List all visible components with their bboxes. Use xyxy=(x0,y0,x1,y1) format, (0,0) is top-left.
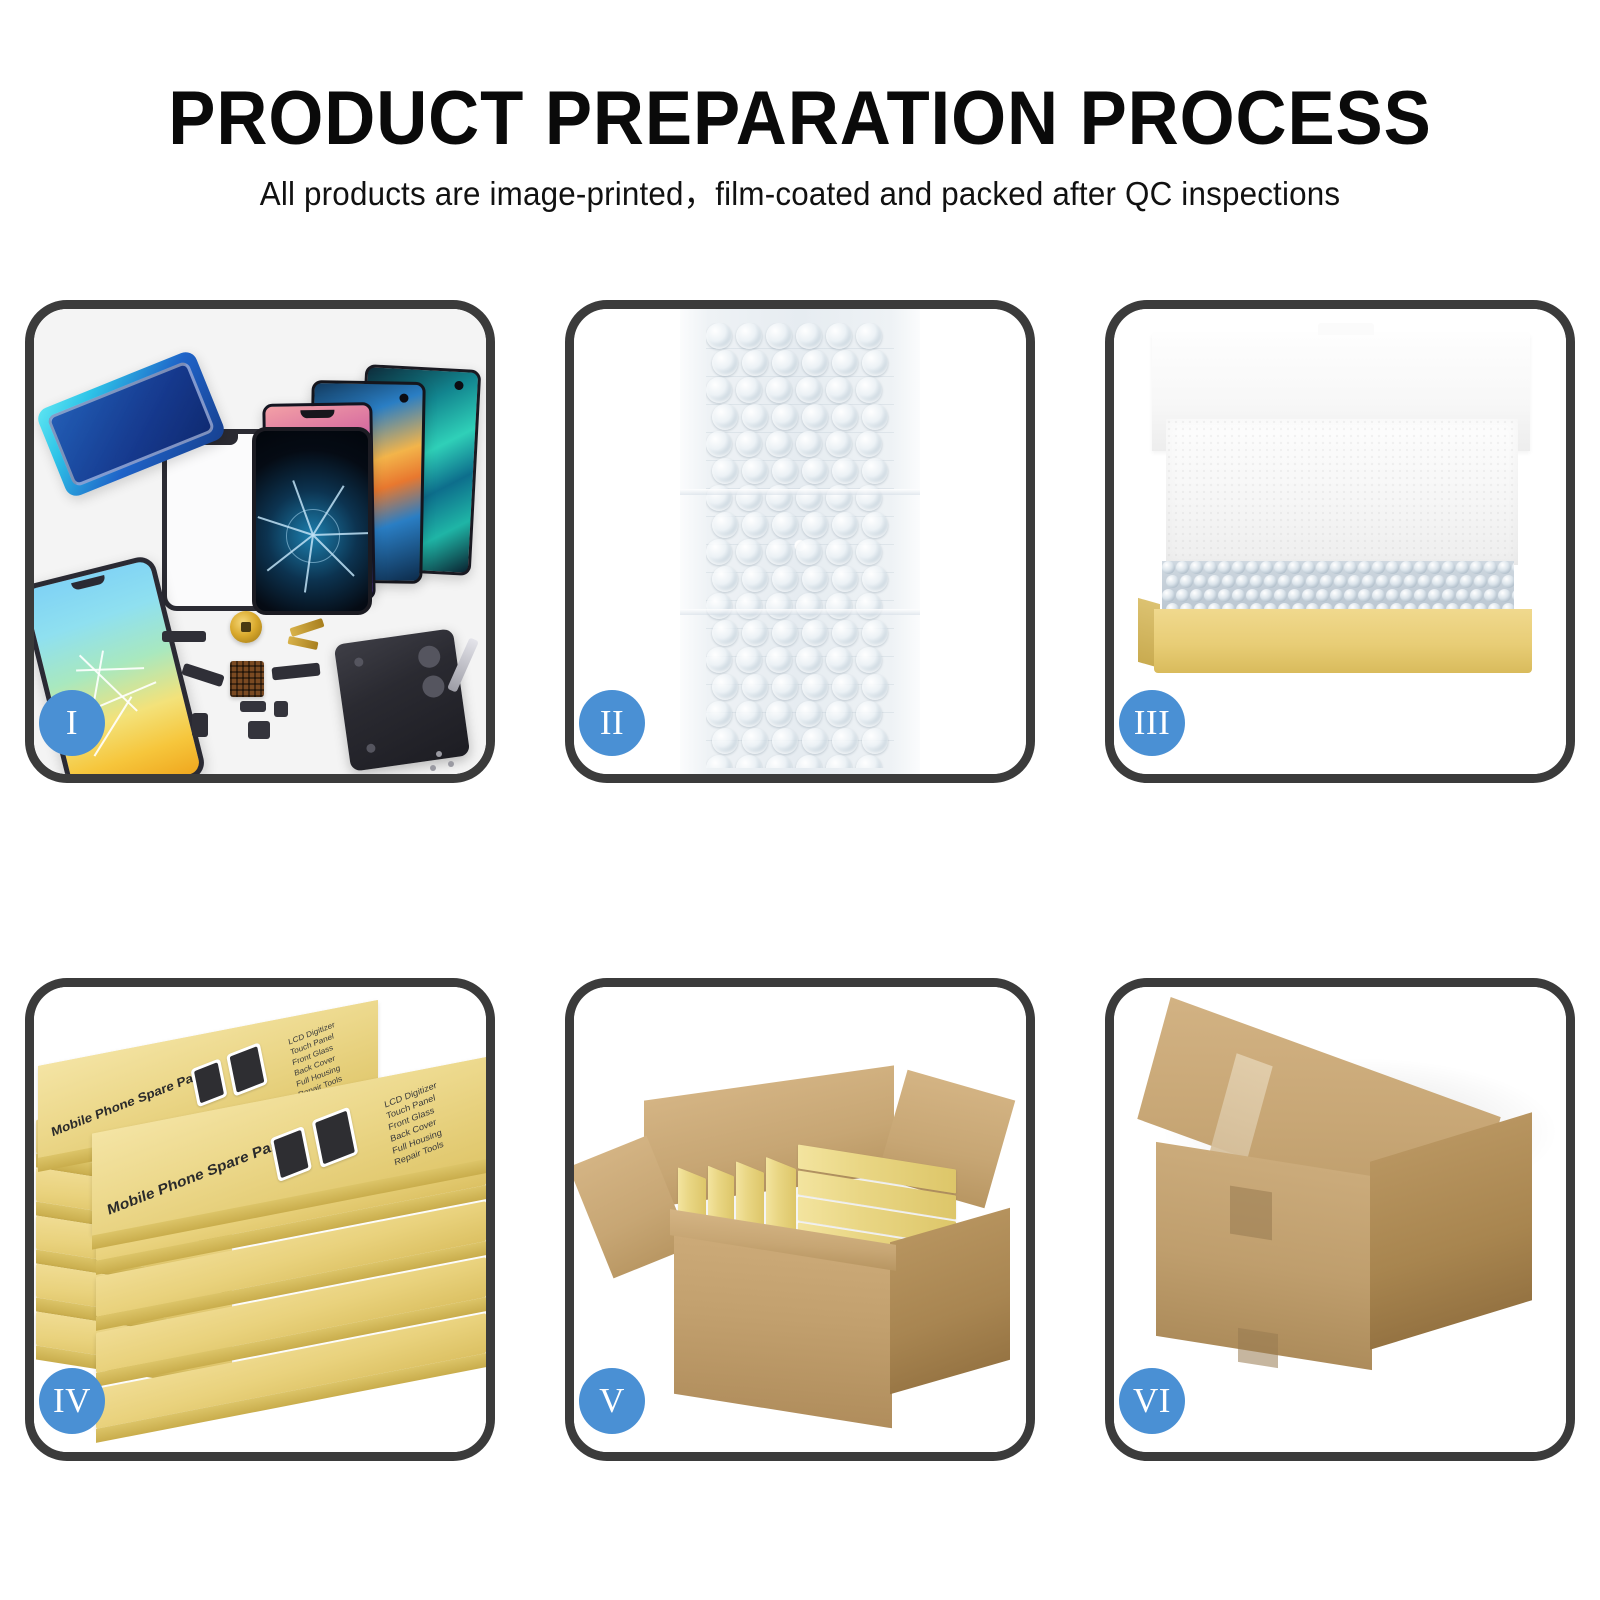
bubble xyxy=(862,458,888,484)
bubble xyxy=(1176,561,1189,574)
bubble xyxy=(712,458,738,484)
bubble xyxy=(1218,561,1231,574)
bubble xyxy=(1376,575,1389,588)
bubble xyxy=(1232,589,1245,602)
bubble xyxy=(706,755,732,768)
bubble xyxy=(772,404,798,430)
bubble xyxy=(1372,561,1385,574)
bubble xyxy=(1348,575,1361,588)
bubble xyxy=(856,593,882,619)
vibrator-icon xyxy=(274,701,288,717)
bubble xyxy=(1428,561,1441,574)
bubble xyxy=(1400,589,1413,602)
bubble xyxy=(1162,561,1175,574)
bubble xyxy=(1334,575,1347,588)
bubble xyxy=(796,323,822,349)
bubble xyxy=(1176,589,1189,602)
bubble xyxy=(826,593,852,619)
bubble xyxy=(1246,589,1259,602)
bubble xyxy=(1190,561,1203,574)
bubble xyxy=(1432,575,1445,588)
bubble xyxy=(856,701,882,727)
bubble xyxy=(766,593,792,619)
bubble xyxy=(772,512,798,538)
bubble xyxy=(826,539,852,565)
camera-cutout xyxy=(417,644,442,669)
bubble-wrap-sleeve xyxy=(680,309,920,774)
bubble xyxy=(736,431,762,457)
bubble xyxy=(706,377,732,403)
bubble xyxy=(796,701,822,727)
bubble xyxy=(1358,561,1371,574)
bubble xyxy=(736,701,762,727)
screw-hole xyxy=(366,743,376,753)
bubble xyxy=(712,350,738,376)
bubble xyxy=(802,674,828,700)
wrap-seam xyxy=(680,489,920,495)
bubble xyxy=(706,593,732,619)
screw-icon xyxy=(430,765,436,771)
step-badge-2: II xyxy=(579,690,645,756)
step-card-5[interactable]: V xyxy=(565,978,1035,1461)
bubble xyxy=(1414,561,1427,574)
bubble xyxy=(742,674,768,700)
bubble xyxy=(712,620,738,646)
ic-chip-icon xyxy=(230,661,264,697)
sim-tray-icon xyxy=(192,713,208,737)
bubble xyxy=(832,620,858,646)
bubble xyxy=(1162,589,1175,602)
bubble xyxy=(712,728,738,754)
wrap-seam xyxy=(680,609,920,615)
page-title: PRODUCT PREPARATION PROCESS xyxy=(56,0,1544,160)
bubble xyxy=(826,701,852,727)
bubble xyxy=(1274,561,1287,574)
bubble xyxy=(706,647,732,673)
bubble xyxy=(736,647,762,673)
bubble xyxy=(766,647,792,673)
bubble xyxy=(1302,589,1315,602)
bubble xyxy=(1302,561,1315,574)
bubble xyxy=(1400,561,1413,574)
bubble xyxy=(856,647,882,673)
bubble xyxy=(772,620,798,646)
bubble xyxy=(1292,575,1305,588)
bubble xyxy=(1414,589,1427,602)
step-card-3[interactable]: III xyxy=(1105,300,1575,783)
bubble xyxy=(742,566,768,592)
bubble xyxy=(832,674,858,700)
bubble xyxy=(1274,589,1287,602)
bubble xyxy=(1190,589,1203,602)
bubble xyxy=(802,512,828,538)
step-badge-5: V xyxy=(579,1368,645,1434)
bubble xyxy=(862,350,888,376)
bubble xyxy=(1474,575,1487,588)
bubble xyxy=(1460,575,1473,588)
bubble xyxy=(1372,589,1385,602)
bubble xyxy=(742,404,768,430)
bubble xyxy=(1204,561,1217,574)
bubble xyxy=(1260,561,1273,574)
bubble xyxy=(1404,575,1417,588)
bubble xyxy=(1246,561,1259,574)
step-badge-1: I xyxy=(39,690,105,756)
bubble xyxy=(1232,561,1245,574)
bubble xyxy=(1442,561,1455,574)
bubble xyxy=(712,512,738,538)
gold-box-body xyxy=(1154,609,1532,673)
bubble xyxy=(1512,561,1514,574)
bubble xyxy=(772,728,798,754)
process-step-grid: I II III xyxy=(25,300,1575,1461)
bubble xyxy=(766,755,792,768)
punch-hole-icon xyxy=(454,381,463,390)
bubble xyxy=(862,512,888,538)
bubble xyxy=(802,350,828,376)
bubble xyxy=(826,755,852,768)
bubble xyxy=(1488,575,1501,588)
bubble xyxy=(832,728,858,754)
bubble xyxy=(856,377,882,403)
step-2-image xyxy=(574,309,1026,774)
bubble xyxy=(1330,561,1343,574)
bubble xyxy=(1180,575,1193,588)
carton-tab-upper xyxy=(1230,1186,1272,1241)
bubble xyxy=(862,404,888,430)
bubble xyxy=(766,701,792,727)
step-card-1[interactable]: I xyxy=(25,300,495,783)
bubble xyxy=(826,323,852,349)
bubble xyxy=(1484,589,1497,602)
bubble xyxy=(856,755,882,768)
bubble xyxy=(706,539,732,565)
bubble xyxy=(1208,575,1221,588)
bubble xyxy=(1250,575,1263,588)
bubble-wrapped-contents xyxy=(1162,561,1514,615)
foam-insert xyxy=(1166,419,1518,565)
bubble xyxy=(862,566,888,592)
bubble xyxy=(1386,561,1399,574)
step-card-6[interactable]: VI xyxy=(1105,978,1575,1461)
bubble xyxy=(1344,589,1357,602)
bubble xyxy=(796,539,822,565)
bubble xyxy=(802,458,828,484)
step-3-image xyxy=(1114,309,1566,774)
bubble xyxy=(1362,575,1375,588)
bubble xyxy=(1166,575,1179,588)
step-badge-3: III xyxy=(1119,690,1185,756)
bubble xyxy=(736,755,762,768)
bubble xyxy=(1502,575,1514,588)
step-card-2[interactable]: II xyxy=(565,300,1035,783)
speaker-icon xyxy=(240,701,266,712)
bubble xyxy=(802,566,828,592)
bubble xyxy=(1194,575,1207,588)
flex-cable-icon xyxy=(162,631,206,642)
bubble xyxy=(712,674,738,700)
bubble xyxy=(1222,575,1235,588)
bubble xyxy=(802,728,828,754)
bubble xyxy=(1428,589,1441,602)
camera-module-icon xyxy=(248,721,270,739)
bubble xyxy=(1418,575,1431,588)
bubble xyxy=(1484,561,1497,574)
bubble xyxy=(1358,589,1371,602)
bubble xyxy=(766,377,792,403)
bubble xyxy=(856,539,882,565)
bubble xyxy=(742,458,768,484)
bubble xyxy=(826,377,852,403)
bubble xyxy=(1498,589,1511,602)
cracked-lcd-icon xyxy=(252,427,372,615)
carton-tab-lower xyxy=(1238,1328,1278,1368)
screw-icon xyxy=(448,761,454,767)
bubble xyxy=(1470,589,1483,602)
bubble xyxy=(706,701,732,727)
bubble xyxy=(742,728,768,754)
wireless-coil-icon xyxy=(230,611,262,643)
lid-tab xyxy=(1318,323,1374,335)
bubble xyxy=(1498,561,1511,574)
bubble xyxy=(802,620,828,646)
bubble xyxy=(772,674,798,700)
bubble xyxy=(772,458,798,484)
bubble xyxy=(1446,575,1459,588)
bubble xyxy=(1442,589,1455,602)
step-4-image: Mobile Phone Spare Parts LCD Digitizer T… xyxy=(34,987,486,1452)
bubble xyxy=(796,431,822,457)
bubble xyxy=(1512,589,1514,602)
bubble xyxy=(796,377,822,403)
bubble xyxy=(742,350,768,376)
bubble xyxy=(766,539,792,565)
bubble xyxy=(802,404,828,430)
bubble xyxy=(1260,589,1273,602)
bubble xyxy=(1306,575,1319,588)
step-badge-6: VI xyxy=(1119,1368,1185,1434)
bubble xyxy=(796,755,822,768)
bubble xyxy=(856,323,882,349)
step-1-image xyxy=(34,309,486,774)
bubble xyxy=(1390,575,1403,588)
camera-cutout xyxy=(421,674,446,699)
bubble xyxy=(832,350,858,376)
back-housing-icon xyxy=(334,628,471,771)
bubble xyxy=(1386,589,1399,602)
step-6-image xyxy=(1114,987,1566,1452)
bubble xyxy=(832,566,858,592)
bubble xyxy=(862,728,888,754)
step-5-image xyxy=(574,987,1026,1452)
bubble xyxy=(742,512,768,538)
screw-hole xyxy=(354,657,364,667)
bubble-field xyxy=(706,323,894,768)
bubble xyxy=(1278,575,1291,588)
bubble xyxy=(826,431,852,457)
bubble xyxy=(862,620,888,646)
bubble xyxy=(1204,589,1217,602)
screw-icon xyxy=(436,751,442,757)
bubble xyxy=(1330,589,1343,602)
bubble xyxy=(856,431,882,457)
bubble xyxy=(706,431,732,457)
bubble xyxy=(736,593,762,619)
bubble xyxy=(766,431,792,457)
bubble xyxy=(826,647,852,673)
bubble xyxy=(736,539,762,565)
bubble xyxy=(1470,561,1483,574)
bubble xyxy=(742,620,768,646)
bubble xyxy=(832,458,858,484)
bubble xyxy=(712,566,738,592)
bubble xyxy=(832,404,858,430)
bubble xyxy=(1456,561,1469,574)
bubble xyxy=(796,593,822,619)
bubble xyxy=(1218,589,1231,602)
bubble xyxy=(1316,561,1329,574)
bubble xyxy=(1456,589,1469,602)
step-badge-4: IV xyxy=(39,1368,105,1434)
bubble xyxy=(1344,561,1357,574)
crack-line xyxy=(76,667,144,671)
page-header: PRODUCT PREPARATION PROCESS All products… xyxy=(0,0,1600,214)
bubble xyxy=(1264,575,1277,588)
bubble xyxy=(862,674,888,700)
notch-icon xyxy=(300,410,334,419)
bubble xyxy=(706,323,732,349)
bubble xyxy=(1288,589,1301,602)
bubble xyxy=(1316,589,1329,602)
bubble xyxy=(1236,575,1249,588)
bubble xyxy=(796,647,822,673)
bubble xyxy=(766,323,792,349)
punch-hole-icon xyxy=(399,394,408,403)
step-card-4[interactable]: Mobile Phone Spare Parts LCD Digitizer T… xyxy=(25,978,495,1461)
bubble xyxy=(1288,561,1301,574)
bubble xyxy=(772,350,798,376)
bubble xyxy=(832,512,858,538)
notch-icon xyxy=(71,575,106,591)
bubble xyxy=(712,404,738,430)
page-subtitle: All products are image-printed，film-coat… xyxy=(40,160,1560,214)
bubble xyxy=(772,566,798,592)
bubble xyxy=(736,377,762,403)
bubble xyxy=(736,323,762,349)
bubble xyxy=(1320,575,1333,588)
